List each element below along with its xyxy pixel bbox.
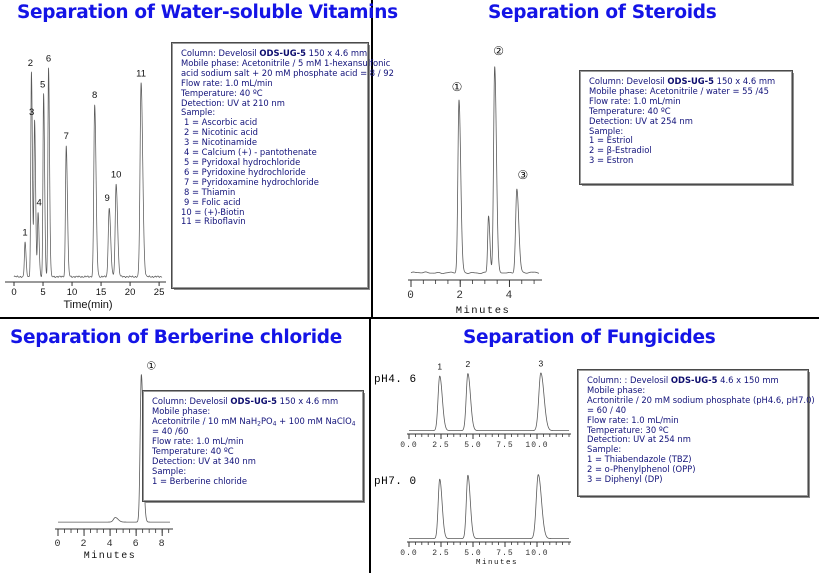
peak-label: 4 <box>36 198 41 209</box>
svg-text:0: 0 <box>11 287 16 298</box>
infobox-steroids: Column: Develosil ODS-UG-5 150 x 4.6 mm … <box>580 71 792 184</box>
peak-label: 3 <box>29 107 34 118</box>
panel-berberine-chloride: Separation of Berberine chloride 02468Mi… <box>0 319 369 573</box>
svg-text:20: 20 <box>125 287 136 298</box>
svg-text:5: 5 <box>40 287 45 298</box>
peak-label: 5 <box>40 79 45 90</box>
svg-text:7.5: 7.5 <box>496 549 513 558</box>
fungicides-ph70-chromatogram: 0.02.55.07.510.0Minutes <box>399 459 581 565</box>
peak-label: 9 <box>105 193 110 204</box>
panel-fungicides: Separation of Fungicides pH4. 6 pH7. 0 0… <box>371 319 819 573</box>
peak-label: 1 <box>437 361 442 371</box>
svg-text:10.0: 10.0 <box>525 441 548 450</box>
svg-text:5.0: 5.0 <box>464 549 481 558</box>
panel-title-fungicides: Separation of Fungicides <box>463 327 715 348</box>
infobox-vitamins: Column: Develosil ODS-UG-5 150 x 4.6 mm … <box>172 43 368 288</box>
peak-label: ③ <box>517 168 528 182</box>
svg-text:15: 15 <box>96 287 107 298</box>
peak-label: ① <box>452 80 463 94</box>
panel-water-soluble-vitamins: Separation of Water-soluble Vitamins 051… <box>0 0 371 317</box>
svg-text:4: 4 <box>506 290 514 302</box>
infobox-fungicides: Column: : Develosil ODS-UG-5 4.6 x 150 m… <box>578 370 808 496</box>
svg-text:25: 25 <box>154 287 165 298</box>
peak-label: 3 <box>538 358 543 368</box>
sample-item: 9 = Folic acid <box>181 198 360 208</box>
sample-item: 1 = Berberine chloride <box>152 477 355 487</box>
svg-text:5.0: 5.0 <box>464 441 481 450</box>
svg-text:0: 0 <box>54 539 61 550</box>
peak-label: 7 <box>64 131 69 142</box>
peak-label: 8 <box>92 90 97 101</box>
svg-text:2.5: 2.5 <box>432 441 449 450</box>
svg-text:10: 10 <box>67 287 78 298</box>
sample-item: 3 = Diphenyl (DP) <box>587 475 800 485</box>
svg-text:0.0: 0.0 <box>400 441 417 450</box>
svg-text:8: 8 <box>159 539 166 550</box>
svg-text:2: 2 <box>456 290 464 302</box>
peak-label: 1 <box>22 228 27 239</box>
svg-text:7.5: 7.5 <box>496 441 513 450</box>
svg-text:Minutes: Minutes <box>84 550 137 562</box>
svg-text:6: 6 <box>133 539 140 550</box>
svg-text:0.0: 0.0 <box>400 549 417 558</box>
panel-steroids: Separation of Steroids 024Minutes①②③ Col… <box>373 0 819 317</box>
sample-item: 11 = Riboflavin <box>181 217 360 227</box>
svg-text:Time(min): Time(min) <box>63 299 112 311</box>
peak-label: 6 <box>46 53 51 64</box>
peak-label: 11 <box>136 69 146 80</box>
sample-item: 3 = Estron <box>589 156 784 166</box>
fungicides-ph46-chromatogram: 0.02.55.07.510.0123 <box>401 355 581 455</box>
vitamins-chromatogram: 0510152025Time(min)1234567891011 <box>0 20 180 320</box>
infobox-berberine: Column: Develosil ODS-UG-5 150 x 4.6 mm … <box>143 391 363 501</box>
steroids-chromatogram: 024Minutes①②③ <box>393 24 583 314</box>
svg-text:Minutes: Minutes <box>476 559 518 567</box>
peak-label: 10 <box>111 170 122 181</box>
svg-text:0: 0 <box>407 290 415 302</box>
svg-text:10.0: 10.0 <box>525 549 548 558</box>
peak-label: ① <box>146 361 156 373</box>
svg-text:2.5: 2.5 <box>432 549 449 558</box>
svg-text:Minutes: Minutes <box>456 305 511 317</box>
figure-page: Separation of Water-soluble Vitamins 051… <box>0 0 819 573</box>
peak-label: 2 <box>466 359 471 369</box>
panel-title-steroids: Separation of Steroids <box>488 2 716 23</box>
peak-label: ② <box>493 44 504 58</box>
peak-label: 2 <box>28 58 33 69</box>
panel-title-berberine: Separation of Berberine chloride <box>10 327 342 348</box>
svg-text:2: 2 <box>81 539 88 550</box>
svg-text:4: 4 <box>107 539 114 550</box>
